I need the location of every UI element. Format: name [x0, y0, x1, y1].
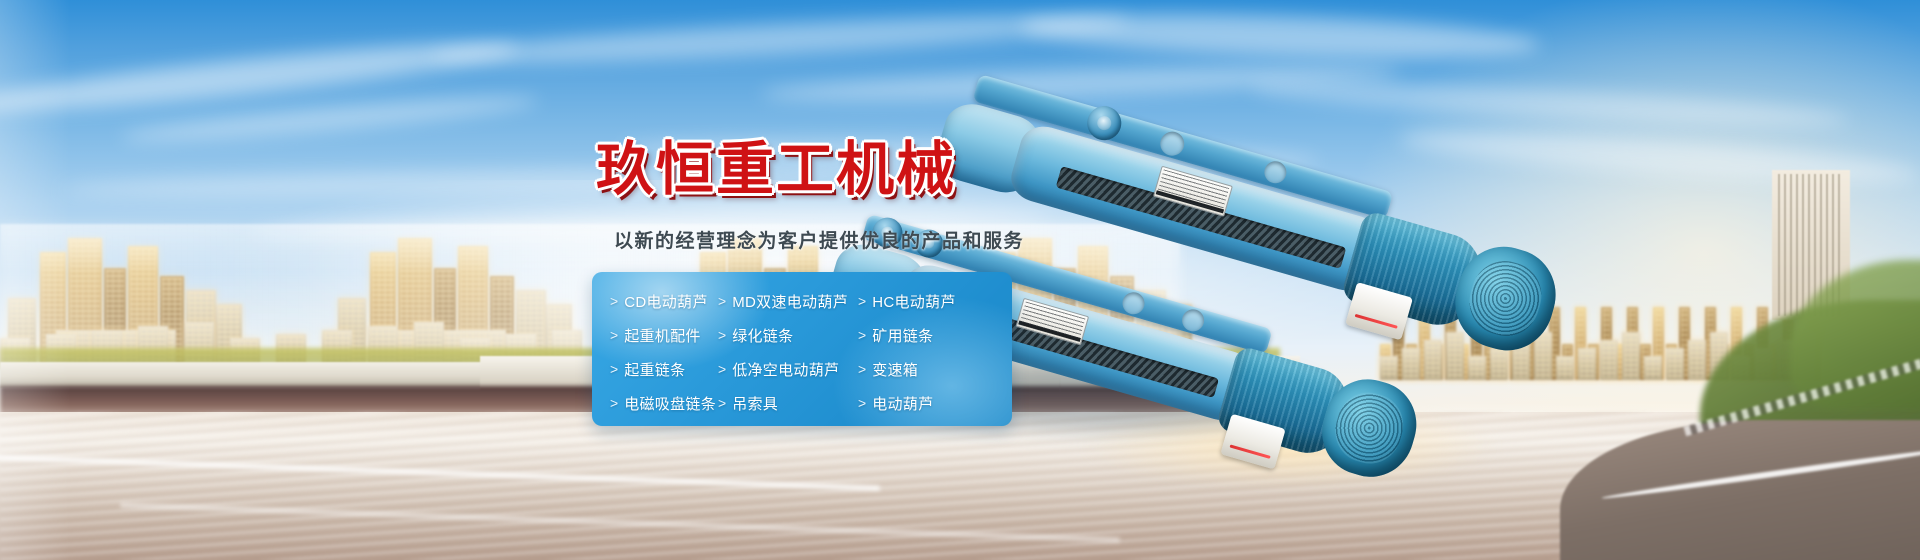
product-link-label: 变速箱 [872, 359, 918, 380]
product-link[interactable]: >矿用链条 [858, 325, 1012, 346]
skyline-building [1644, 356, 1662, 380]
fan-grille [1461, 253, 1549, 343]
skyline-building [1622, 332, 1640, 380]
chevron-right-icon: > [610, 361, 618, 377]
skyline-building [1666, 348, 1684, 380]
product-link[interactable]: >MD双速电动葫芦 [718, 291, 858, 312]
product-link-label: 低净空电动葫芦 [732, 359, 839, 380]
chevron-right-icon: > [610, 293, 618, 309]
product-link[interactable]: >HC电动葫芦 [858, 291, 1012, 312]
product-link-label: 起重链条 [624, 359, 685, 380]
chevron-right-icon: > [858, 361, 866, 377]
product-link-label: CD电动葫芦 [624, 291, 707, 312]
chevron-right-icon: > [718, 395, 726, 411]
product-link-label: 电动葫芦 [872, 393, 933, 414]
product-link[interactable]: >起重链条 [610, 359, 718, 380]
junction-box-label [1354, 314, 1397, 329]
fan-grille [1328, 386, 1411, 471]
product-link-label: HC电动葫芦 [872, 291, 955, 312]
chevron-right-icon: > [858, 395, 866, 411]
skyline-building [1578, 348, 1596, 380]
product-link-label: 起重机配件 [624, 325, 701, 346]
skyline-building [1688, 340, 1706, 380]
hero-banner: 玖恒重工机械 以新的经营理念为客户提供优良的产品和服务 >CD电动葫芦>MD双速… [0, 0, 1920, 560]
junction-box-label [1229, 444, 1271, 459]
product-link-label: 吊索具 [732, 393, 778, 414]
product-link[interactable]: >绿化链条 [718, 325, 858, 346]
chevron-right-icon: > [610, 395, 618, 411]
product-links-grid: >CD电动葫芦>MD双速电动葫芦>HC电动葫芦>起重机配件>绿化链条>矿用链条>… [592, 272, 1012, 426]
product-link-label: 电磁吸盘链条 [624, 393, 716, 414]
lug-hole [1096, 114, 1113, 131]
product-link[interactable]: >电磁吸盘链条 [610, 393, 718, 414]
chevron-right-icon: > [858, 327, 866, 343]
skyline-building [1600, 340, 1618, 380]
product-link[interactable]: >起重机配件 [610, 325, 718, 346]
chevron-right-icon: > [610, 327, 618, 343]
chevron-right-icon: > [718, 361, 726, 377]
product-link[interactable]: >电动葫芦 [858, 393, 1012, 414]
chevron-right-icon: > [858, 293, 866, 309]
product-link[interactable]: >吊索具 [718, 393, 858, 414]
chevron-right-icon: > [718, 293, 726, 309]
product-link-label: MD双速电动葫芦 [732, 291, 848, 312]
product-link-label: 矿用链条 [872, 325, 933, 346]
page-title: 玖恒重工机械 [596, 122, 956, 206]
product-link-label: 绿化链条 [732, 325, 793, 346]
page-subtitle: 以新的经营理念为客户提供优良的产品和服务 [614, 226, 1024, 253]
chevron-right-icon: > [718, 327, 726, 343]
product-link[interactable]: >CD电动葫芦 [610, 291, 718, 312]
product-link[interactable]: >低净空电动葫芦 [718, 359, 858, 380]
product-links-panel: >CD电动葫芦>MD双速电动葫芦>HC电动葫芦>起重机配件>绿化链条>矿用链条>… [592, 272, 1012, 426]
product-link[interactable]: >变速箱 [858, 359, 1012, 380]
